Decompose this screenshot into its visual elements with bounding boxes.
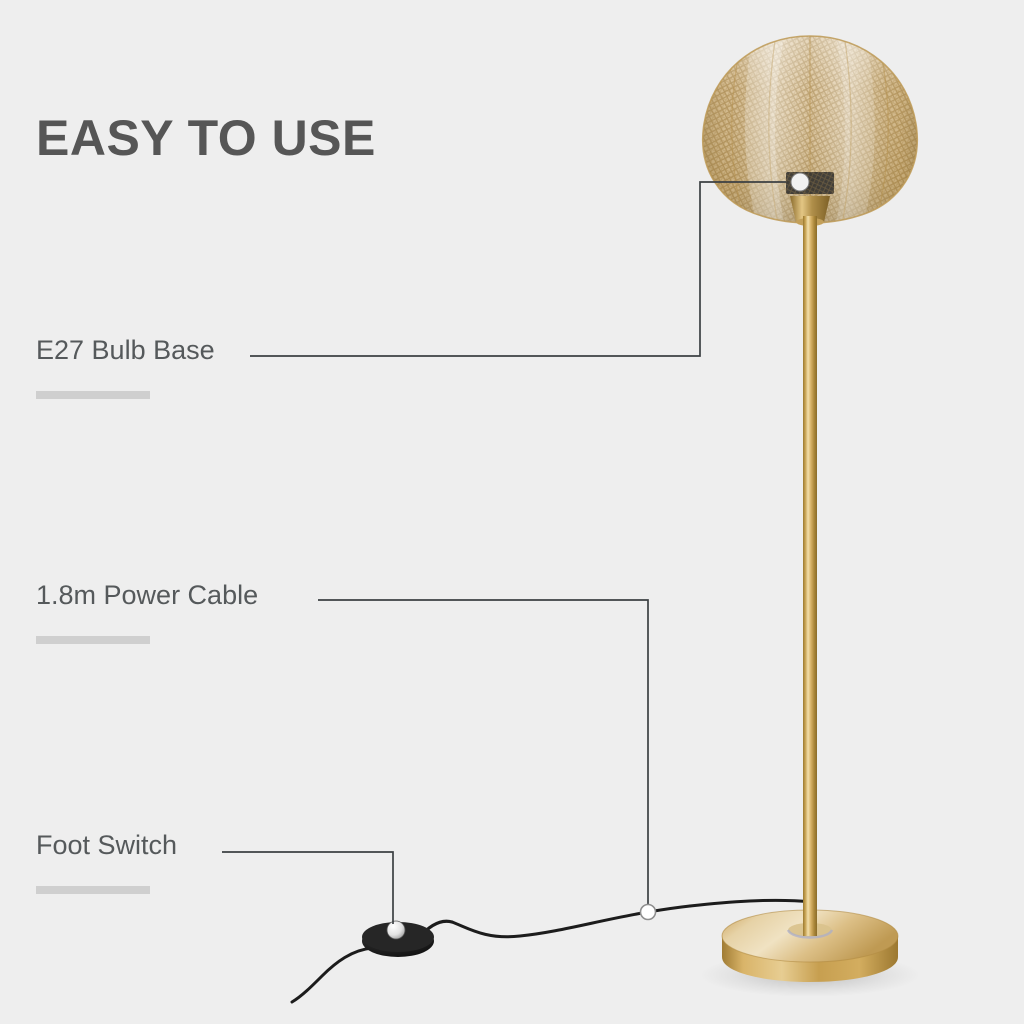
callout-power-cable-label: 1.8m Power Cable <box>36 582 258 609</box>
callout-bulb-base-label: E27 Bulb Base <box>36 337 215 364</box>
leader-line-foot-switch <box>222 852 393 924</box>
callout-foot-switch: Foot Switch <box>36 832 177 894</box>
callout-foot-switch-rule <box>36 886 150 894</box>
leader-line-power-cable <box>318 600 648 905</box>
infographic-canvas: EASY TO USE E27 Bulb Base 1.8m Power Cab… <box>0 0 1024 1024</box>
callout-bulb-base: E27 Bulb Base <box>36 337 215 399</box>
leader-line-bulb-base <box>250 182 786 356</box>
callout-power-cable: 1.8m Power Cable <box>36 582 258 644</box>
callout-foot-switch-label: Foot Switch <box>36 832 177 859</box>
callout-power-cable-rule <box>36 636 150 644</box>
callout-bulb-base-rule <box>36 391 150 399</box>
cable-junction-marker <box>641 905 656 920</box>
page-title: EASY TO USE <box>36 112 376 165</box>
